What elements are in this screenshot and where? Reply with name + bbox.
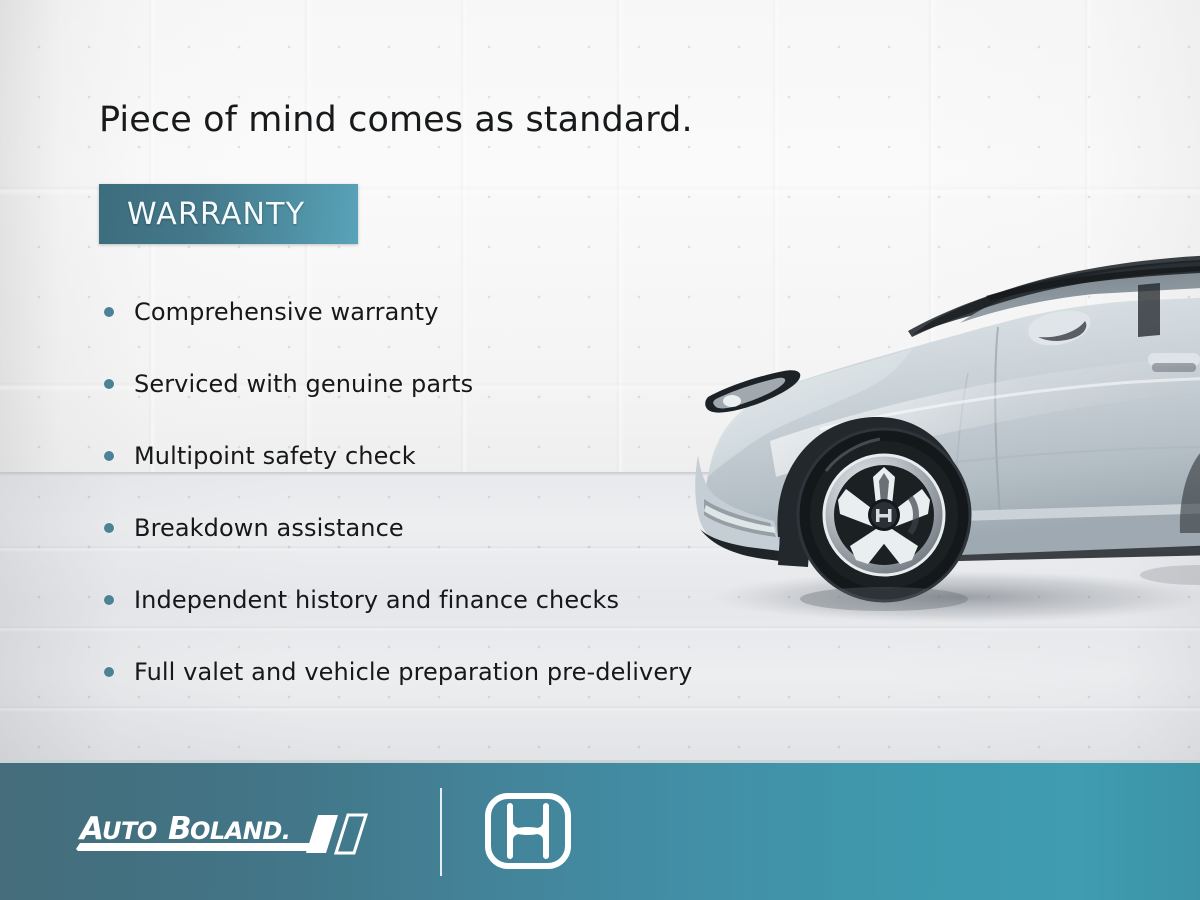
list-item: Full valet and vehicle preparation pre-d… bbox=[99, 636, 859, 708]
list-item-label: Breakdown assistance bbox=[134, 513, 404, 543]
svg-text:B: B bbox=[168, 811, 191, 847]
list-item: Breakdown assistance bbox=[99, 492, 859, 564]
svg-text:A: A bbox=[77, 811, 104, 847]
warranty-badge: WARRANTY bbox=[99, 184, 358, 244]
bullet-dot-icon bbox=[104, 595, 114, 605]
list-item-label: Full valet and vehicle preparation pre-d… bbox=[134, 657, 692, 687]
list-item: Comprehensive warranty bbox=[99, 276, 859, 348]
bullet-dot-icon bbox=[104, 307, 114, 317]
bullet-dot-icon bbox=[104, 451, 114, 461]
warranty-badge-label: WARRANTY bbox=[99, 197, 305, 232]
bullet-dot-icon bbox=[104, 667, 114, 677]
footer-content: A UTO B OLAND. bbox=[0, 763, 1200, 900]
list-item-label: Comprehensive warranty bbox=[134, 297, 439, 327]
svg-text:OLAND.: OLAND. bbox=[190, 817, 290, 845]
honda-logo-icon bbox=[482, 792, 574, 870]
page-title: Piece of mind comes as standard. bbox=[99, 98, 693, 142]
list-item-label: Independent history and finance checks bbox=[134, 585, 619, 615]
list-item: Serviced with genuine parts bbox=[99, 348, 859, 420]
footer-divider bbox=[440, 788, 442, 876]
footer-bar: A UTO B OLAND. bbox=[0, 760, 1200, 900]
list-item-label: Serviced with genuine parts bbox=[134, 369, 473, 399]
auto-boland-logo: A UTO B OLAND. bbox=[72, 799, 402, 865]
list-item: Multipoint safety check bbox=[99, 420, 859, 492]
svg-text:UTO: UTO bbox=[102, 817, 157, 845]
list-item-label: Multipoint safety check bbox=[134, 441, 416, 471]
bullet-dot-icon bbox=[104, 379, 114, 389]
slide-canvas: Piece of mind comes as standard. WARRANT… bbox=[0, 0, 1200, 900]
list-item: Independent history and finance checks bbox=[99, 564, 859, 636]
bullet-dot-icon bbox=[104, 523, 114, 533]
feature-list: Comprehensive warranty Serviced with gen… bbox=[99, 276, 859, 708]
